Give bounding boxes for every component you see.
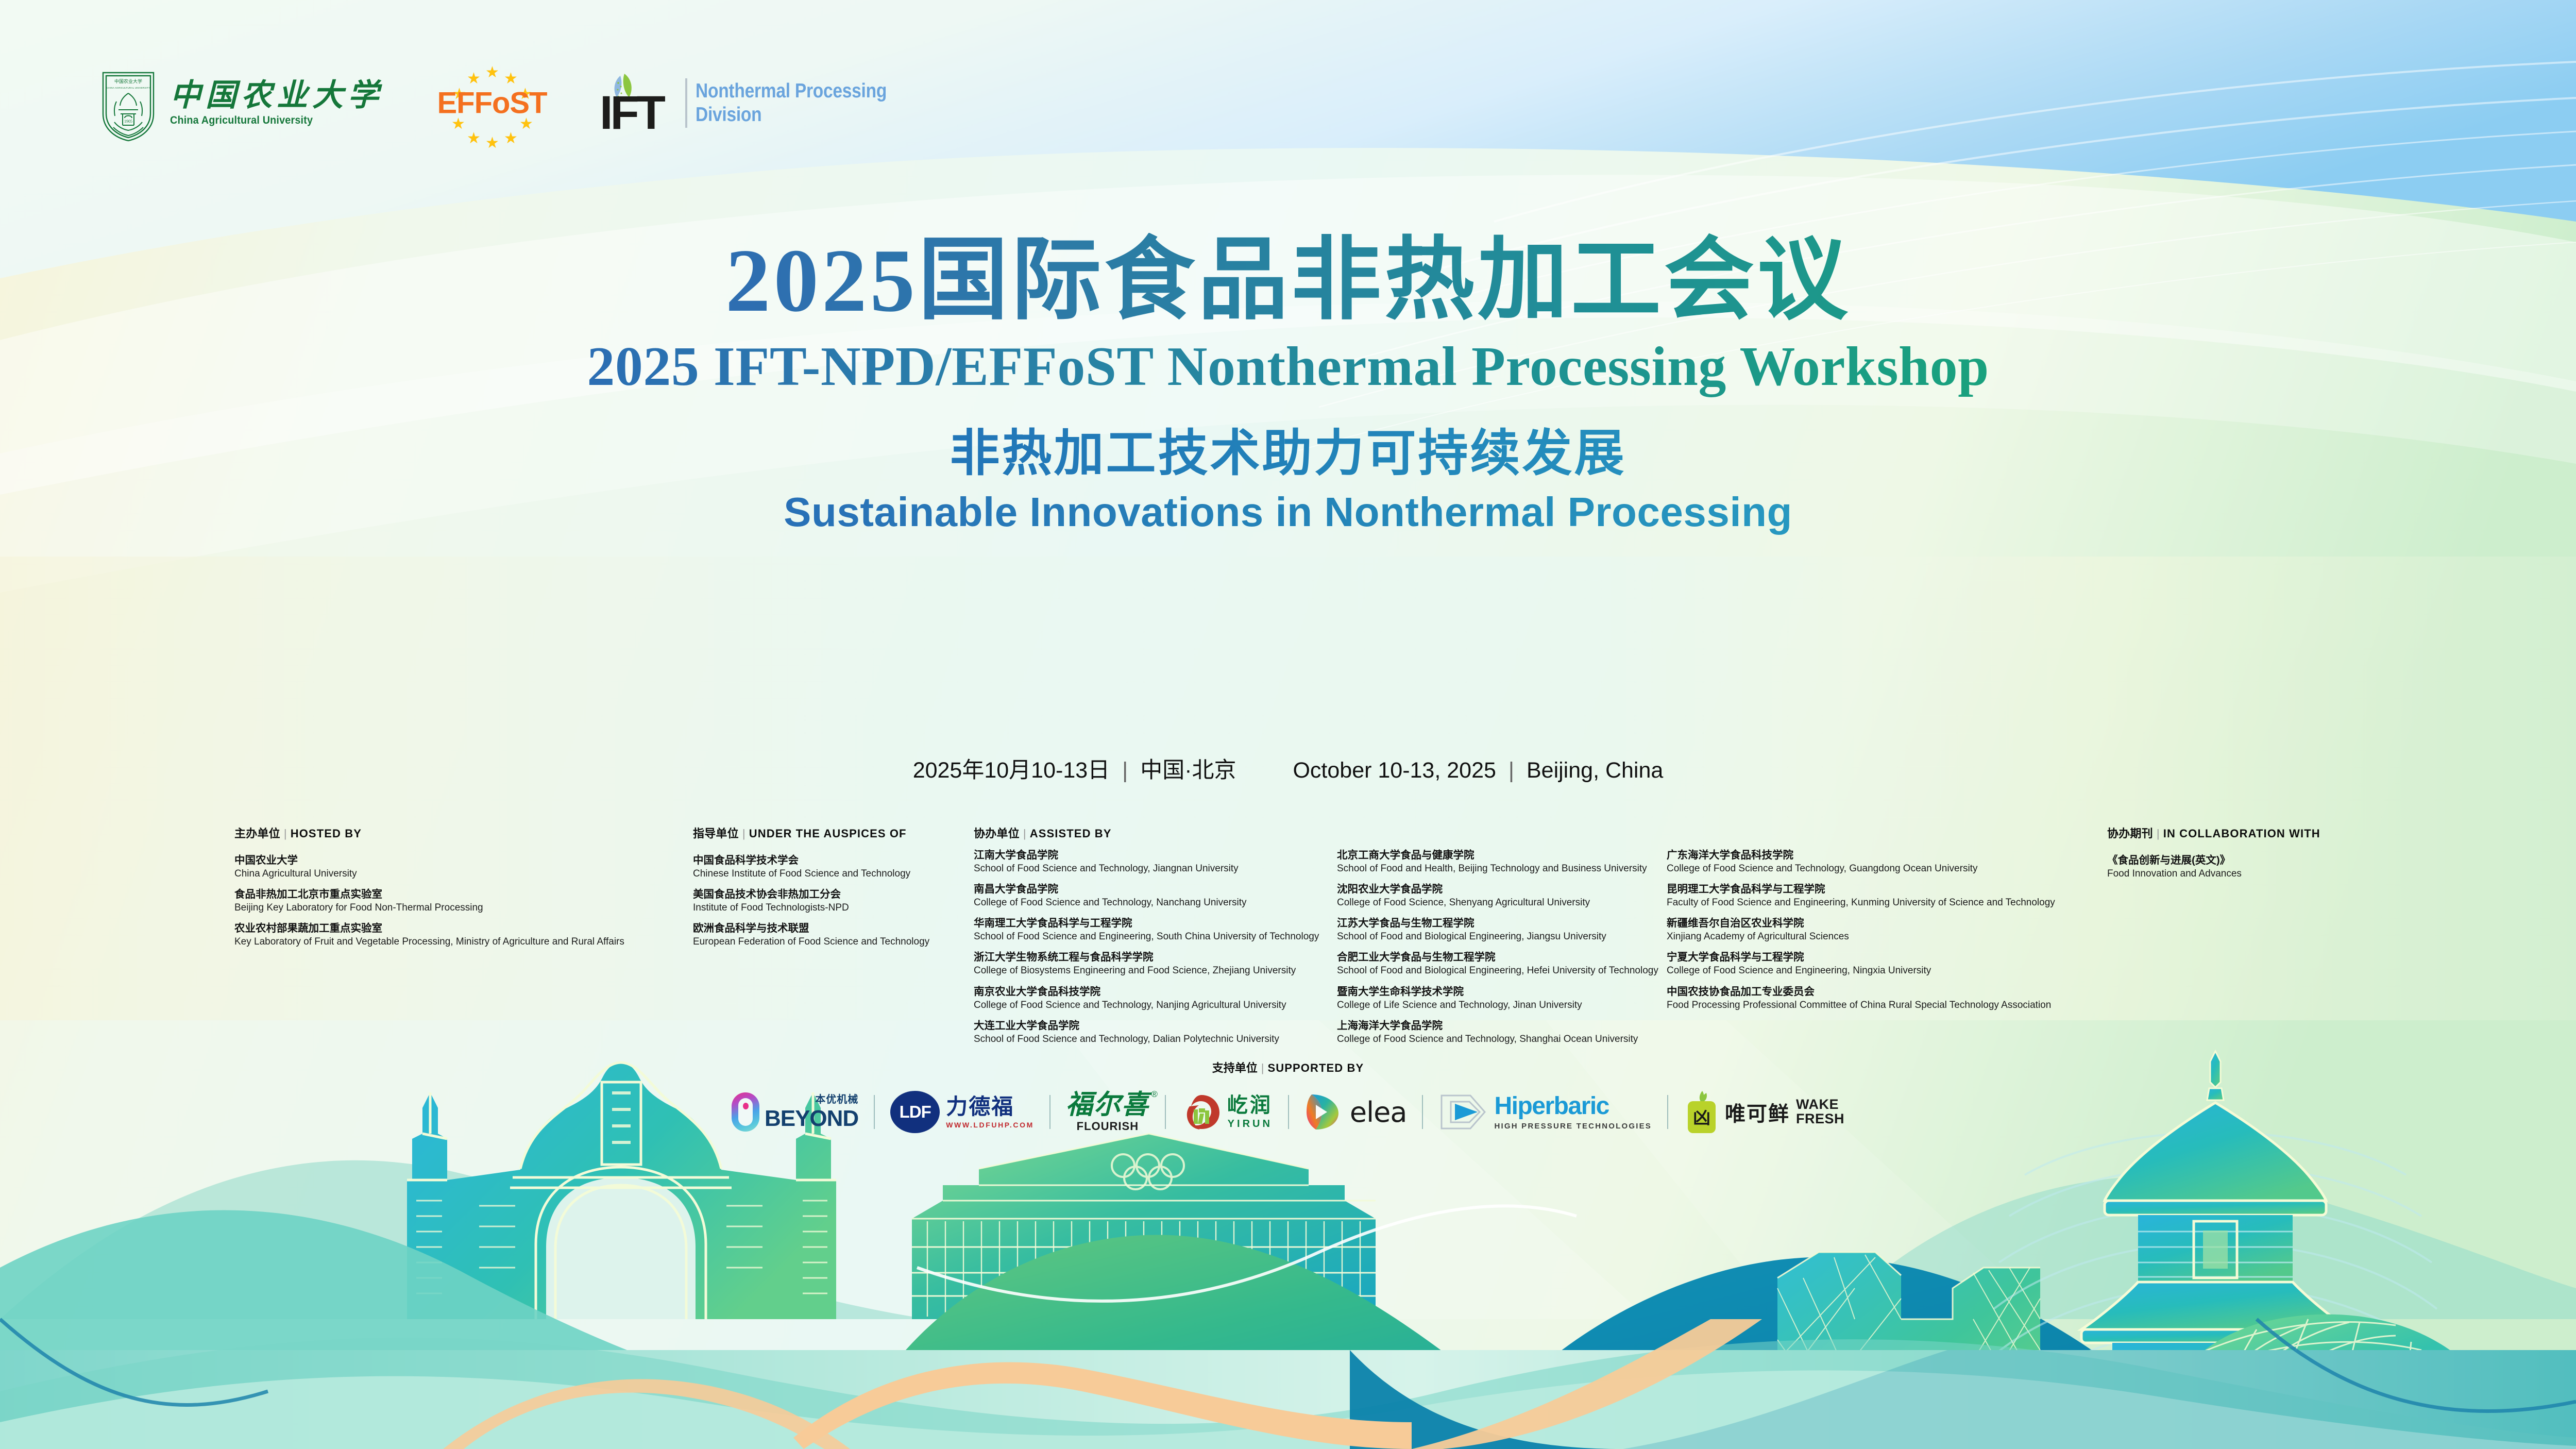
org-entry: 中国农技协食品加工专业委员会 Food Processing Professio… (1667, 985, 2055, 1012)
assisted-subcolumn-b: 北京工商大学食品与健康学院 School of Food and Health,… (1337, 848, 1658, 1053)
wakefresh-name-en-1: WAKE (1796, 1098, 1844, 1112)
org-entry: 江苏大学食品与生物工程学院 School of Food and Biologi… (1337, 916, 1658, 943)
ift-division-line1: Nonthermal Processing (696, 79, 887, 103)
sponsor-divider (874, 1095, 875, 1129)
column-heading-assisted: 协办单位|ASSISTED BY (974, 824, 1112, 841)
ldf-mark-icon: LDF (890, 1091, 940, 1133)
column-heading-auspices: 指导单位|UNDER THE AUSPICES OF (693, 824, 929, 841)
date-cn: 2025年10月10-13日 (913, 758, 1110, 783)
skyline-and-waves (0, 0, 2576, 1449)
org-entry: 美国食品技术协会非热加工分会 Institute of Food Technol… (693, 887, 929, 914)
venue-cn: 中国·北京 (1140, 758, 1236, 783)
svg-text:凶: 凶 (1693, 1108, 1710, 1128)
beyond-name-cn: 本优机械 (815, 1094, 858, 1105)
date-en: October 10-13, 2025 (1293, 758, 1496, 783)
sponsor-divider (1288, 1095, 1289, 1129)
sponsor-divider (1049, 1095, 1050, 1129)
wakefresh-name-cn: 唯可鲜 (1725, 1097, 1790, 1127)
logo-china-agricultural-university: 中国农业大学 CHINA AGRICULTURAL UNIVERSITY 190… (98, 64, 383, 142)
column-under-the-auspices-of: 指导单位|UNDER THE AUSPICES OF 中国食品科学技术学会 Ch… (693, 824, 929, 955)
elea-wordmark: elea (1350, 1096, 1407, 1128)
org-entry: 新疆维吾尔自治区农业科学院 Xinjiang Academy of Agricu… (1667, 916, 2055, 943)
cau-name-en: China Agricultural University (170, 114, 366, 127)
org-entry: 食品非热加工北京市重点实验室 Beijing Key Laboratory fo… (234, 887, 624, 914)
supported-by-heading: 支持单位|SUPPORTED BY (0, 1059, 2576, 1075)
cau-name-cn: 中国农业大学 (170, 80, 383, 111)
eu-star-icon: ★ (485, 65, 499, 80)
sponsor-ldf: LDF 力德福 WWW.LDFUHP.COM (875, 1088, 1049, 1136)
yirun-mark-icon (1181, 1093, 1222, 1131)
title-english: 2025 IFT-NPD/EFFoST Nonthermal Processin… (0, 334, 2576, 399)
ift-division-line2: Division (696, 103, 887, 127)
svg-text:CHINA AGRICULTURAL UNIVERSITY: CHINA AGRICULTURAL UNIVERSITY (107, 87, 150, 89)
date-and-venue: 2025年10月10-13日 | 中国·北京 October 10-13, 20… (0, 752, 2576, 784)
column-heading-collaboration: 协办期刊|IN COLLABORATION WITH (2107, 824, 2320, 841)
org-entry: 中国农业大学 China Agricultural University (234, 853, 624, 880)
sponsor-divider (1667, 1095, 1668, 1129)
subtitle-english: Sustainable Innovations in Nonthermal Pr… (0, 488, 2576, 536)
org-entry: 华南理工大学食品科学与工程学院 School of Food Science a… (974, 916, 1319, 943)
org-entry: 合肥工业大学食品与生物工程学院 School of Food and Biolo… (1337, 950, 1658, 977)
org-entry: 中国食品科学技术学会 Chinese Institute of Food Sci… (693, 853, 929, 880)
cau-crest-icon: 中国农业大学 CHINA AGRICULTURAL UNIVERSITY 190… (98, 64, 159, 142)
eu-star-icon: ★ (504, 131, 518, 146)
hiperbaric-wordmark: Hiperbaric (1494, 1094, 1652, 1119)
org-entry: 《食品创新与进展(英文)》 Food Innovation and Advanc… (2107, 853, 2320, 880)
ldf-name-cn: 力德福 (946, 1096, 1034, 1118)
registered-trademark-icon: ® (1151, 1090, 1158, 1099)
subtitle-chinese: 非热加工技术助力可持续发展 (0, 426, 2576, 481)
wakefresh-mark-icon: 凶 (1684, 1090, 1720, 1134)
org-entry: 上海海洋大学食品学院 College of Food Science and T… (1337, 1019, 1658, 1046)
logo-effost: ★ ★ ★ ★ ★ ★ ★ ★ ★ ★ EFFoST (422, 62, 562, 144)
sponsor-yirun: 屹润 YIRUN (1166, 1088, 1288, 1136)
effost-wordmark: EFFoST (437, 86, 547, 121)
yirun-name-en: YIRUN (1228, 1119, 1273, 1129)
org-entry: 宁夏大学食品科学与工程学院 College of Food Science an… (1667, 950, 2055, 977)
date-separator-en: | (1509, 758, 1514, 783)
org-entry: 北京工商大学食品与健康学院 School of Food and Health,… (1337, 848, 1658, 875)
conference-poster: 中国农业大学 CHINA AGRICULTURAL UNIVERSITY 190… (0, 0, 2576, 1449)
title-block: 2025国际食品非热加工会议 2025 IFT-NPD/EFFoST Nonth… (0, 233, 2576, 536)
svg-text:1905: 1905 (124, 119, 132, 124)
partner-logos: 中国农业大学 CHINA AGRICULTURAL UNIVERSITY 190… (98, 62, 918, 144)
ldf-website: WWW.LDFUHP.COM (946, 1121, 1034, 1128)
org-entry: 暨南大学生命科学技术学院 College of Life Science and… (1337, 985, 1658, 1012)
yirun-name-cn: 屹润 (1227, 1095, 1273, 1116)
sponsor-beyond: 本优机械 BEYOND (716, 1088, 874, 1136)
org-entry: 江南大学食品学院 School of Food Science and Tech… (974, 848, 1319, 875)
sponsor-hiperbaric: Hiperbaric HIGH PRESSURE TECHNOLOGIES (1423, 1088, 1667, 1136)
logo-divider (685, 78, 687, 128)
flourish-name-en: FLOURISH (1077, 1121, 1139, 1132)
eu-star-icon: ★ (485, 136, 499, 151)
svg-text:中国农业大学: 中国农业大学 (114, 78, 142, 84)
column-assisted-by: 协办单位|ASSISTED BY 江南大学食品学院 School of Food… (974, 824, 1112, 853)
sponsor-divider (1422, 1095, 1423, 1129)
organisation-columns: 主办单位|HOSTED BY 中国农业大学 China Agricultural… (0, 824, 2576, 1041)
assisted-subcolumn-c: 广东海洋大学食品科技学院 College of Food Science and… (1667, 848, 2055, 1019)
beyond-name-en: BEYOND (765, 1107, 858, 1130)
title-chinese: 2025国际食品非热加工会议 (0, 233, 2576, 329)
eu-star-icon: ★ (467, 71, 481, 87)
elea-mark-icon (1304, 1091, 1344, 1133)
sponsor-divider (1165, 1095, 1166, 1129)
column-heading-hosted: 主办单位|HOSTED BY (234, 824, 624, 841)
org-entry: 沈阳农业大学食品学院 College of Food Science, Shen… (1337, 882, 1658, 909)
hiperbaric-mark-icon (1438, 1091, 1488, 1133)
org-entry: 南昌大学食品学院 College of Food Science and Tec… (974, 882, 1319, 909)
wakefresh-name-en-2: FRESH (1796, 1112, 1844, 1126)
sponsor-flourish: ® 福尔喜 FLOURISH (1050, 1088, 1165, 1136)
hiperbaric-tagline: HIGH PRESSURE TECHNOLOGIES (1494, 1122, 1652, 1130)
beyond-mark-icon (732, 1092, 759, 1132)
org-entry: 南京农业大学食品科技学院 College of Food Science and… (974, 985, 1319, 1012)
logo-ift-npd: IFT Nonthermal Processing Division (600, 73, 918, 133)
org-entry: 昆明理工大学食品科学与工程学院 Faculty of Food Science … (1667, 882, 2055, 909)
date-separator: | (1122, 758, 1128, 783)
org-entry: 欧洲食品科学与技术联盟 European Federation of Food … (693, 921, 929, 948)
flourish-name-cn: 福尔喜 (1066, 1092, 1149, 1119)
sponsor-logo-row: 本优机械 BEYOND LDF 力德福 WWW.LDFUHP.COM ® 福尔喜 (0, 1088, 2576, 1136)
org-entry: 大连工业大学食品学院 School of Food Science and Te… (974, 1019, 1319, 1046)
ift-wordmark: IFT (600, 89, 663, 137)
eu-star-icon: ★ (467, 131, 481, 146)
org-entry: 浙江大学生物系统工程与食品科学学院 College of Biosystems … (974, 950, 1319, 977)
sponsor-elea: elea (1289, 1088, 1422, 1136)
org-entry: 农业农村部果蔬加工重点实验室 Key Laboratory of Fruit a… (234, 921, 624, 948)
org-entry: 广东海洋大学食品科技学院 College of Food Science and… (1667, 848, 2055, 875)
column-in-collaboration-with: 协办期刊|IN COLLABORATION WITH 《食品创新与进展(英文)》… (2107, 824, 2320, 887)
venue-en: Beijing, China (1527, 758, 1663, 783)
sponsor-wake-fresh: 凶 唯可鲜 WAKE FRESH (1668, 1088, 1860, 1136)
column-hosted-by: 主办单位|HOSTED BY 中国农业大学 China Agricultural… (234, 824, 624, 955)
assisted-subcolumn-a: 江南大学食品学院 School of Food Science and Tech… (974, 848, 1319, 1053)
eu-star-icon: ★ (504, 71, 518, 87)
